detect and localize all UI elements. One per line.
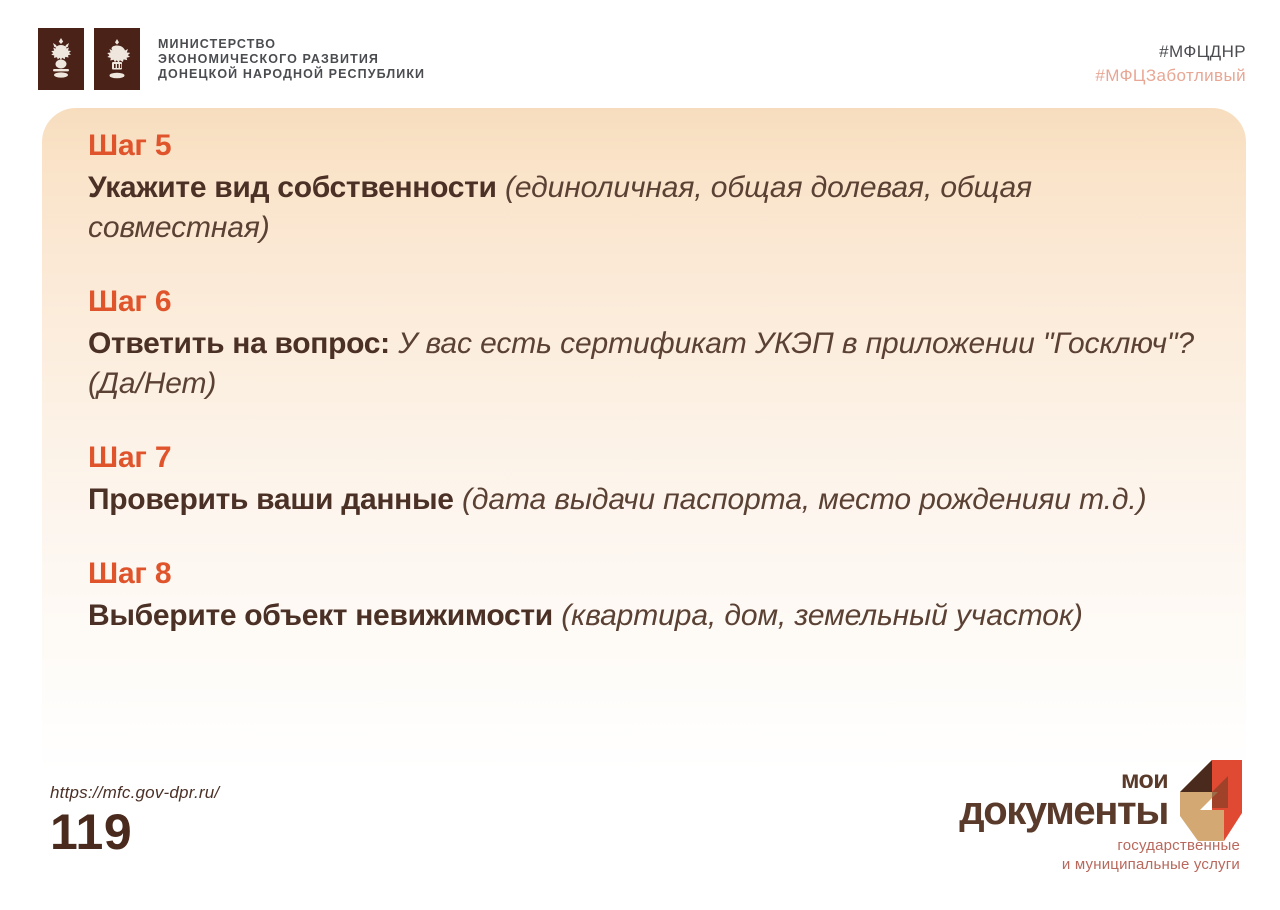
step-item: Шаг 5 Укажите вид собственности (единоли… <box>88 126 1226 248</box>
mydocuments-shield-icon <box>1172 758 1246 844</box>
mydocuments-tagline: государственные и муниципальные услуги <box>1062 836 1240 874</box>
mydocuments-wordmark: мои документы <box>959 768 1168 831</box>
step-label: Шаг 8 <box>88 554 1226 594</box>
steps-list: Шаг 5 Укажите вид собственности (единоли… <box>88 126 1226 636</box>
ministry-branding: МИНИСТЕРСТВО ЭКОНОМИЧЕСКОГО РАЗВИТИЯ ДОН… <box>38 28 425 90</box>
step-label: Шаг 7 <box>88 438 1226 478</box>
step-bold-text: Выберите объект невижимости <box>88 599 553 632</box>
hashtag-block: #МФЦДНР #МФЦЗаботливый <box>1095 40 1246 88</box>
hashtag-primary: #МФЦДНР <box>1095 40 1246 64</box>
step-label: Шаг 5 <box>88 126 1226 166</box>
step-text: Выберите объект невижимости (квартира, д… <box>88 596 1198 636</box>
tagline-line-2: и муниципальные услуги <box>1062 855 1240 874</box>
dnr-coat-of-arms-icon <box>94 28 140 90</box>
step-item: Шаг 8 Выберите объект невижимости (кварт… <box>88 554 1226 636</box>
footer-left: https://mfc.gov-dpr.ru/ 119 <box>50 783 219 859</box>
ministry-name: МИНИСТЕРСТВО ЭКОНОМИЧЕСКОГО РАЗВИТИЯ ДОН… <box>158 37 425 82</box>
step-text: Ответить на вопрос: У вас есть сертифика… <box>88 324 1198 404</box>
mydocuments-word-main: документы <box>959 791 1168 831</box>
mydocuments-logo: мои документы государственные и муниципа… <box>946 758 1246 878</box>
step-bold-text: Укажите вид собственности <box>88 171 497 204</box>
steps-card: Шаг 5 Укажите вид собственности (единоли… <box>42 108 1246 808</box>
step-item: Шаг 7 Проверить ваши данные (дата выдачи… <box>88 438 1226 520</box>
ministry-line-3: ДОНЕЦКОЙ НАРОДНОЙ РЕСПУБЛИКИ <box>158 67 425 82</box>
step-text: Укажите вид собственности (единоличная, … <box>88 168 1198 248</box>
site-url-link[interactable]: https://mfc.gov-dpr.ru/ <box>50 783 219 803</box>
russia-coat-of-arms-icon <box>38 28 84 90</box>
step-text: Проверить ваши данные (дата выдачи паспо… <box>88 480 1198 520</box>
hashtag-secondary: #МФЦЗаботливый <box>1095 64 1246 88</box>
ministry-line-2: ЭКОНОМИЧЕСКОГО РАЗВИТИЯ <box>158 52 425 67</box>
page-number: 119 <box>50 805 219 859</box>
step-italic-text: (дата выдачи паспорта, место рожденияи т… <box>462 483 1147 516</box>
step-label: Шаг 6 <box>88 282 1226 322</box>
step-bold-text: Ответить на вопрос: <box>88 327 390 360</box>
step-italic-text: (квартира, дом, земельный участок) <box>561 599 1083 632</box>
ministry-line-1: МИНИСТЕРСТВО <box>158 37 425 52</box>
page-header: МИНИСТЕРСТВО ЭКОНОМИЧЕСКОГО РАЗВИТИЯ ДОН… <box>0 0 1280 108</box>
tagline-line-1: государственные <box>1062 836 1240 855</box>
step-item: Шаг 6 Ответить на вопрос: У вас есть сер… <box>88 282 1226 404</box>
step-bold-text: Проверить ваши данные <box>88 483 454 516</box>
